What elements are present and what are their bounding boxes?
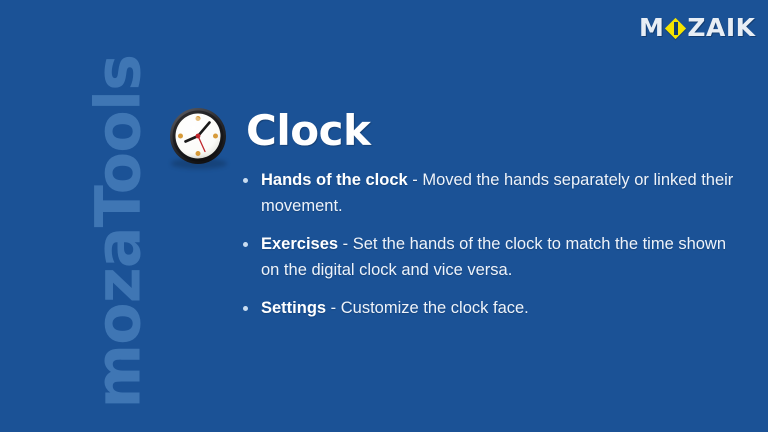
slide-canvas: mozaTools M ZAIK xyxy=(0,0,768,432)
logo-diamond-core xyxy=(674,22,678,35)
list-item-term: Hands of the clock xyxy=(261,171,408,189)
bullet-dot-icon xyxy=(243,178,248,183)
list-item: Exercises - Set the hands of the clock t… xyxy=(240,232,740,283)
feature-list: Hands of the clock - Moved the hands sep… xyxy=(240,168,740,322)
analog-clock-icon xyxy=(168,106,230,168)
page-title: Clock xyxy=(246,106,370,156)
logo-text-right: ZAIK xyxy=(687,15,755,41)
mozaik-logo: M ZAIK xyxy=(639,15,756,41)
bullet-dot-icon xyxy=(243,306,248,311)
logo-diamond-icon xyxy=(665,16,686,40)
list-item-term: Exercises xyxy=(261,235,338,253)
list-item-description: - Customize the clock face. xyxy=(326,299,529,317)
bullet-dot-icon xyxy=(243,242,248,247)
watermark-label: mozaTools xyxy=(82,69,155,409)
logo-text-left: M xyxy=(639,15,664,41)
list-item: Hands of the clock - Moved the hands sep… xyxy=(240,168,740,219)
list-item: Settings - Customize the clock face. xyxy=(240,296,740,322)
watermark: mozaTools xyxy=(0,0,140,432)
list-item-term: Settings xyxy=(261,299,326,317)
clock-shadow xyxy=(171,158,227,169)
